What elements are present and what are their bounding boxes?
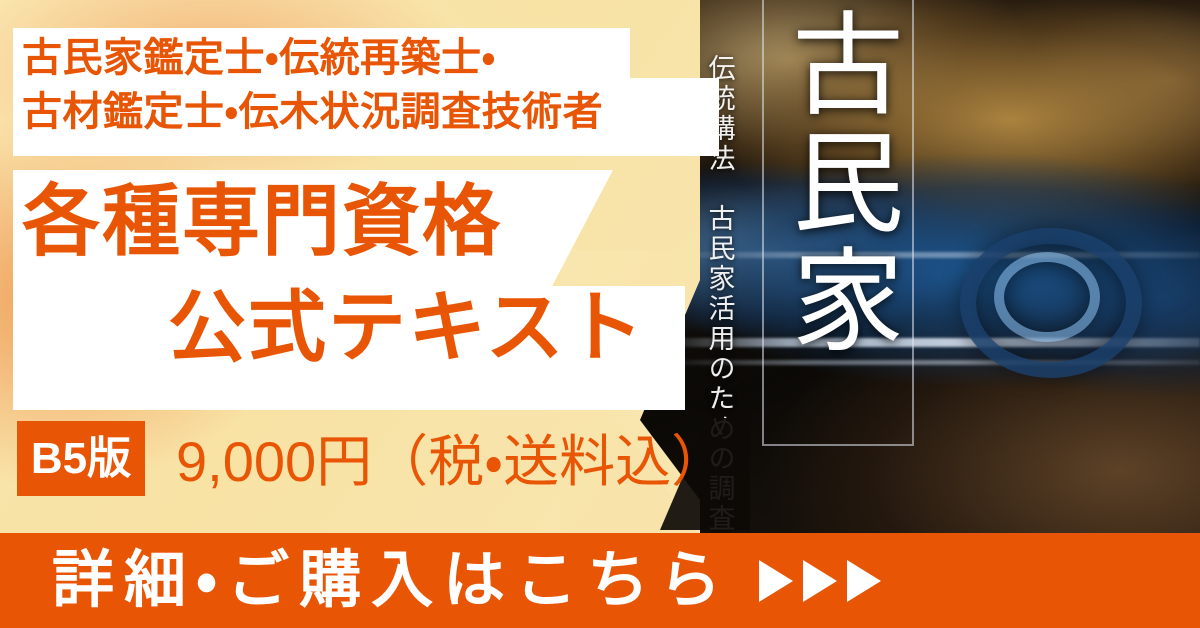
qualifications-text: 古民家鑑定士・伝統再築士・ 古材鑑定士・伝木状況調査技術者 [22,32,722,139]
carving-ring-ornament [994,252,1100,342]
price-text: 9,000円（税・送料込） [176,428,727,495]
cta-arrow-group [759,560,881,602]
headline-line-1: 各種専門資格 [22,182,502,260]
cta-bar[interactable]: 詳細・ご購入はこちら [0,533,1200,628]
cta-label: 詳細・ご購入はこちら [52,550,731,612]
photo-highlight-streak [660,360,1200,365]
promo-banner: 古民家 伝統構法 古民家活用のための調査と再生の 古民家鑑定士・伝統再築士・ 古… [0,0,1200,628]
size-badge-label: B5版 [31,437,131,481]
size-badge: B5版 [17,421,145,496]
triangle-right-icon [847,560,881,602]
triangle-right-icon [759,560,793,602]
headline-line-2: 公式テキスト [168,288,646,366]
triangle-right-icon [803,560,837,602]
book-cover-title: 古民家 [780,6,900,360]
